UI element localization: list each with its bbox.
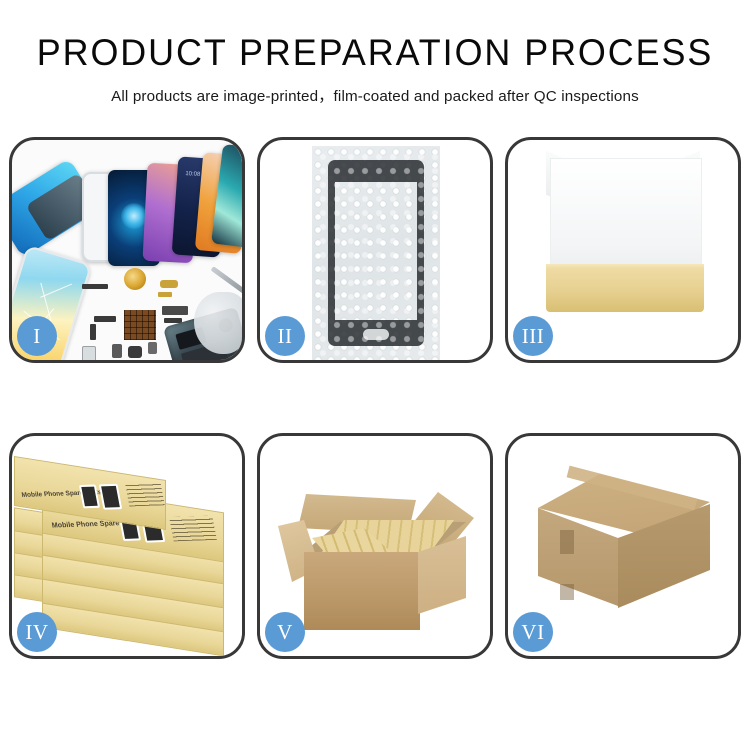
connector-part xyxy=(158,292,172,297)
sim-tray-part xyxy=(82,346,96,360)
page-title: PRODUCT PREPARATION PROCESS xyxy=(11,34,739,73)
step-1-badge: I xyxy=(17,316,57,356)
step-6-badge: VI xyxy=(513,612,553,652)
process-step-5[interactable]: V xyxy=(257,433,493,659)
process-step-4[interactable]: Mobile Phone Spare Parts Mobile Phone Sp… xyxy=(9,433,245,659)
crack-line xyxy=(40,284,72,298)
step-4-badge: IV xyxy=(17,612,57,652)
jellyfish-glow xyxy=(121,203,147,229)
carton-seam-mark xyxy=(560,530,574,554)
flex-cable-part xyxy=(82,284,108,289)
box-screen-graphic xyxy=(79,484,100,508)
process-step-3[interactable]: III xyxy=(505,137,741,363)
box-spec-lines xyxy=(169,516,217,542)
process-step-1[interactable]: 10:08 xyxy=(9,137,245,363)
tweezers-tool xyxy=(211,266,242,295)
flex-cable-part xyxy=(94,316,116,322)
phone-status-bar: 10:08 xyxy=(185,171,200,178)
process-step-6[interactable]: VI xyxy=(505,433,741,659)
chip-array-part xyxy=(124,310,156,340)
flex-cable-part xyxy=(90,324,96,340)
step-3-badge: III xyxy=(513,316,553,356)
box-screen-graphic xyxy=(99,484,122,510)
step-5-badge: V xyxy=(265,612,305,652)
kraft-box-tray xyxy=(546,268,704,312)
box-spec-lines xyxy=(125,483,165,507)
copper-coil-part xyxy=(124,268,146,290)
camera-module-part xyxy=(162,306,188,315)
carton-seam-mark xyxy=(560,584,574,600)
small-part xyxy=(148,342,157,354)
carton-front-face xyxy=(304,552,420,630)
small-part xyxy=(112,344,122,358)
speaker-part xyxy=(128,346,142,358)
connector-part xyxy=(160,280,178,288)
phone-glass-screen xyxy=(328,160,424,346)
process-steps-grid: 10:08 xyxy=(9,137,741,659)
process-step-2[interactable]: II xyxy=(257,137,493,363)
page-subtitle: All products are image-printed，film-coat… xyxy=(0,84,750,106)
page-header: PRODUCT PREPARATION PROCESS All products… xyxy=(0,0,750,106)
step-2-badge: II xyxy=(265,316,305,356)
